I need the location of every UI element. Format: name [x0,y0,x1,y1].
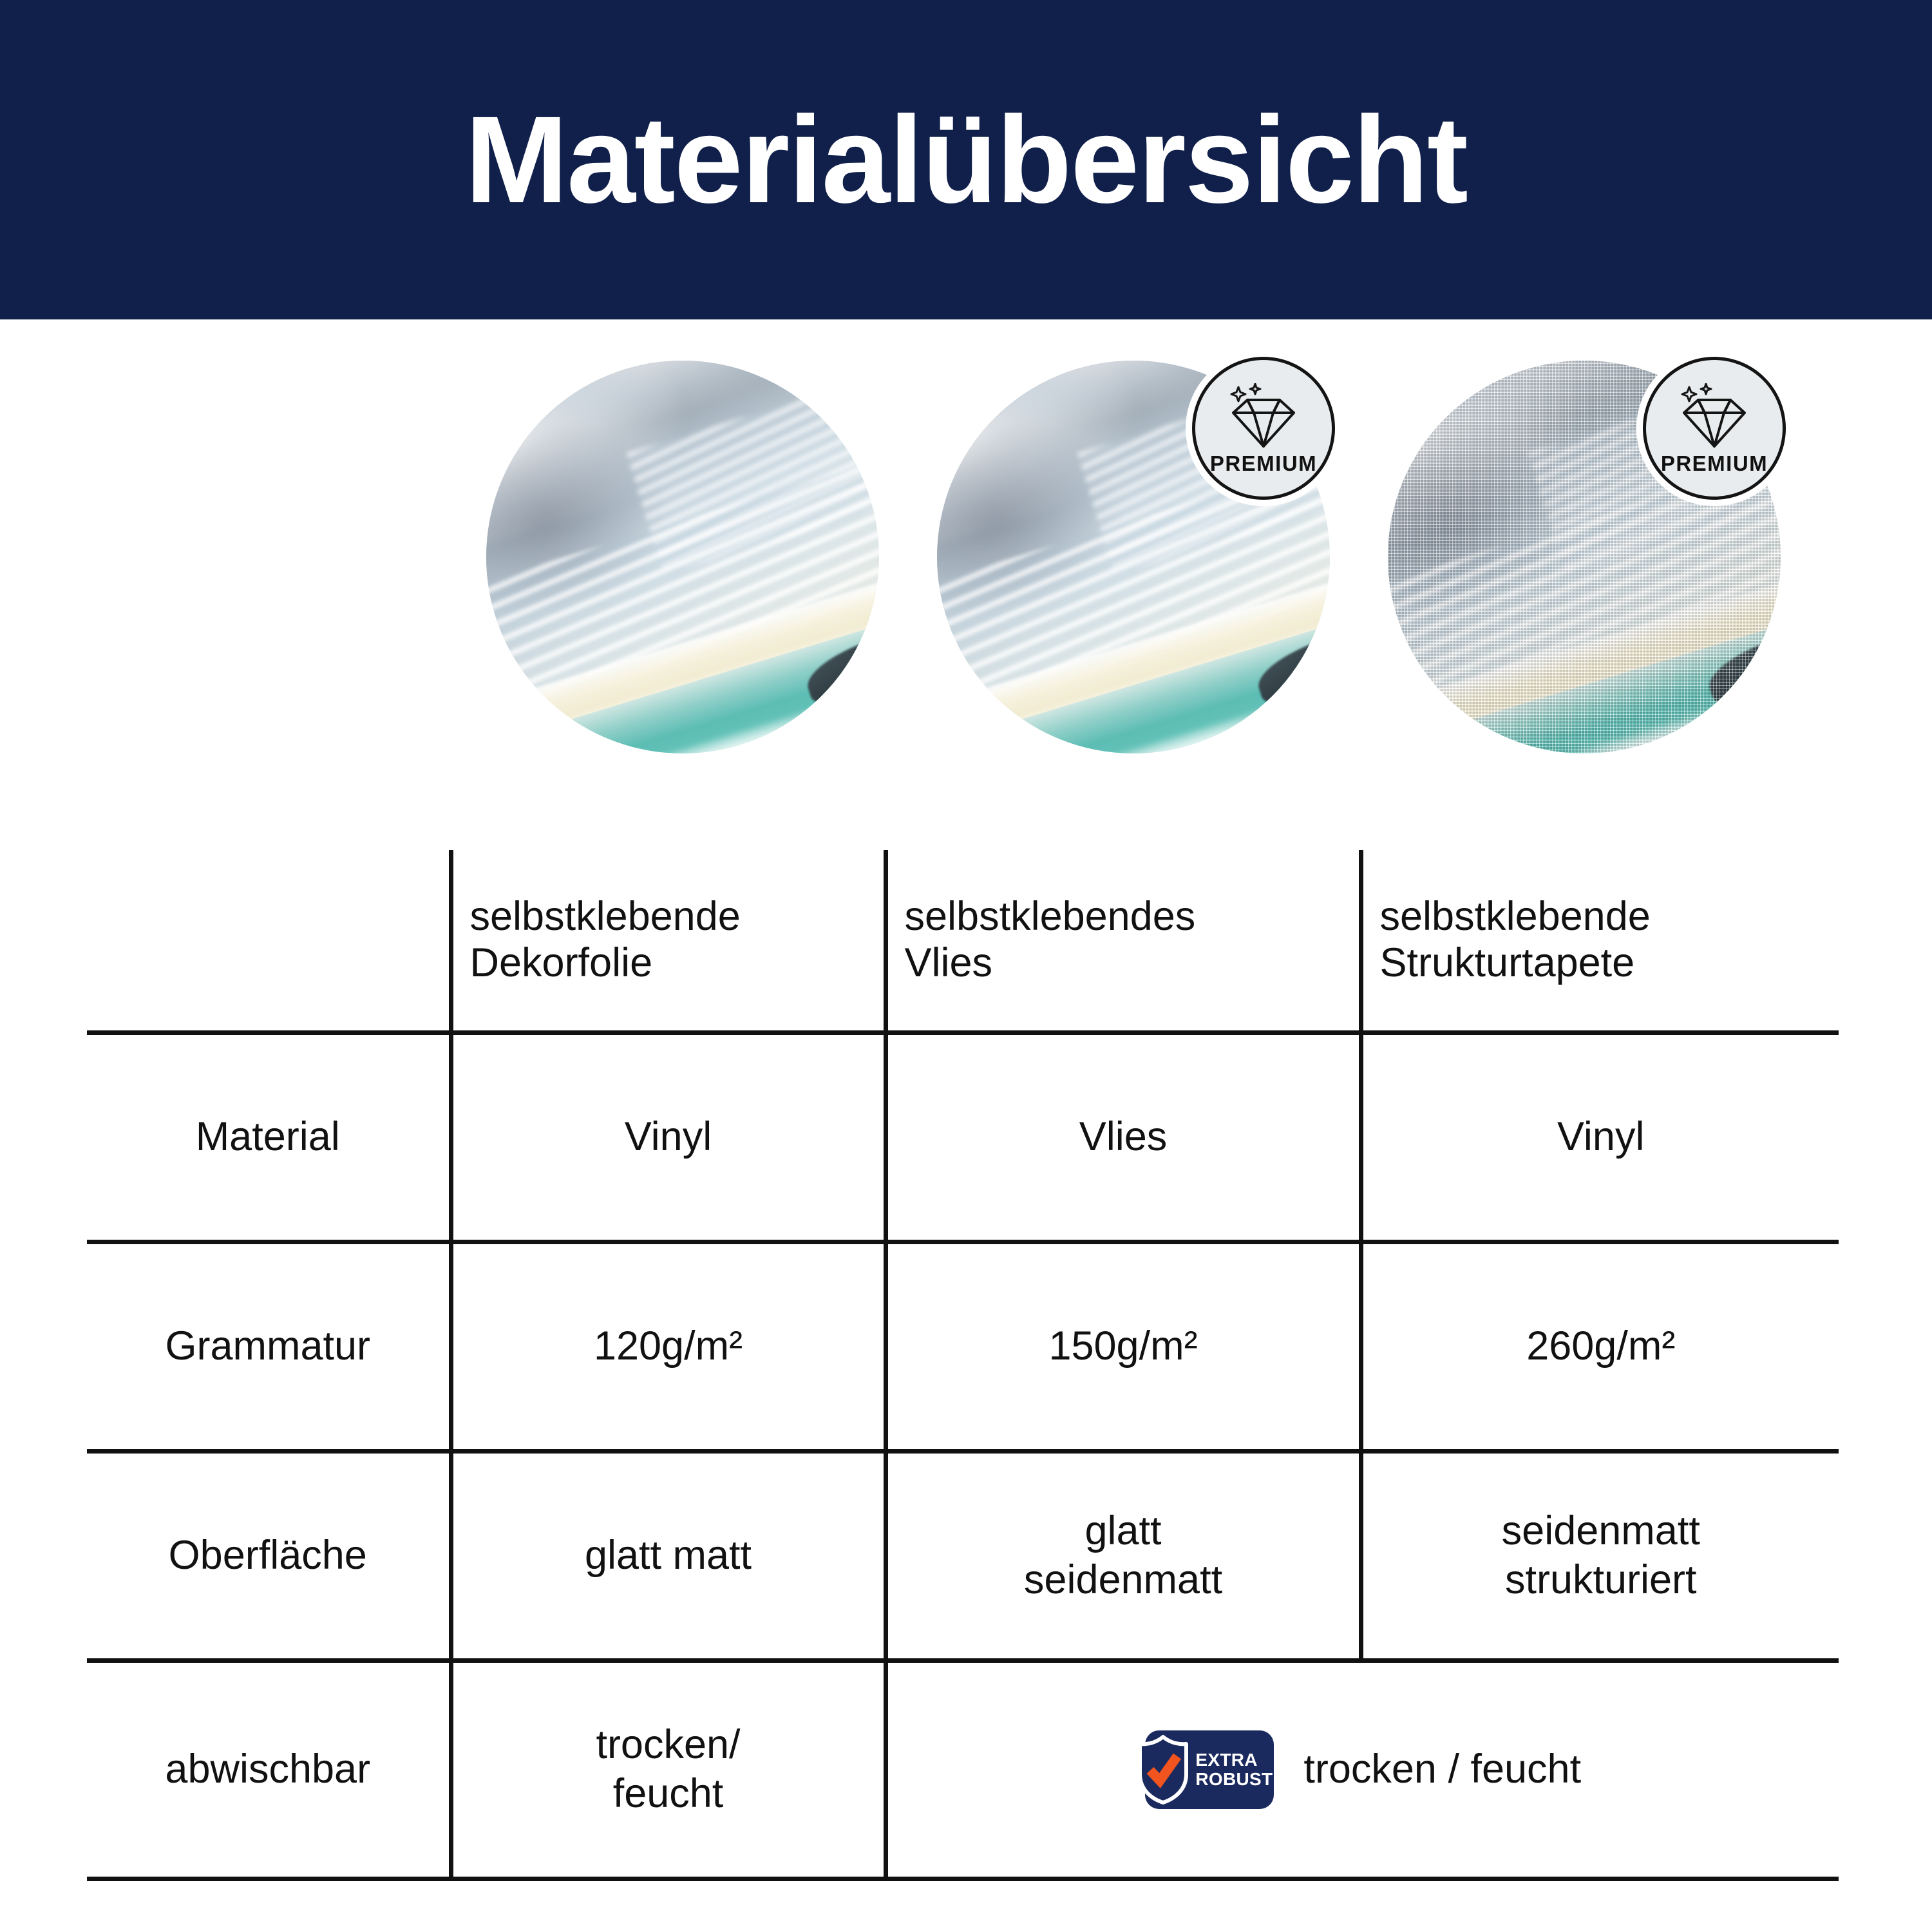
row-label-material: Material [87,1033,451,1242]
table-row-oberflaeche: Oberfläche glatt matt glatt seidenmatt s… [87,1452,1839,1661]
cell-line1: glatt [888,1507,1359,1556]
premium-badge-label: PREMIUM [1210,453,1317,474]
material-sample-strukturtapete[interactable]: PREMIUM [1388,361,1781,753]
sample-image-dekorfolie [486,361,879,753]
cell-abwischbar-merged-text: trocken / feucht [1303,1747,1581,1793]
beach-scene-graphic [486,361,879,753]
page-header-banner: Materialübersicht [0,0,1932,319]
cell-oberflaeche-dekorfolie: glatt matt [451,1452,885,1661]
cell-abwischbar-merged: EXTRA ROBUST trocken / feucht [885,1661,1839,1879]
column-header-line2: Dekorfolie [470,940,884,987]
material-sample-dekorfolie[interactable] [486,361,879,753]
cell-material-strukturtapete: Vinyl [1361,1033,1839,1242]
page-title: Materialübersicht [465,98,1467,222]
diamond-icon [1676,383,1752,450]
extra-robust-label: EXTRA ROBUST [1195,1750,1273,1788]
table-row-grammatur: Grammatur 120g/m² 150g/m² 260g/m² [87,1242,1839,1452]
table-row-abwischbar: abwischbar trocken/ feucht [87,1661,1839,1879]
column-header-strukturtapete: selbstklebende Strukturtapete [1361,850,1839,1033]
cell-line2: strukturiert [1363,1556,1839,1605]
table-row-material: Material Vinyl Vlies Vinyl [87,1033,1839,1242]
robust-row-content: EXTRA ROBUST trocken / feucht [888,1663,1839,1877]
premium-badge-vlies: PREMIUM [1192,357,1335,500]
column-header-dekorfolie: selbstklebende Dekorfolie [451,850,885,1033]
cell-line1: seidenmatt [1363,1507,1839,1556]
row-label-grammatur: Grammatur [87,1242,451,1452]
column-header-line2: Vlies [905,940,1359,987]
cell-grammatur-dekorfolie: 120g/m² [451,1242,885,1452]
table-corner-cell [87,850,451,1033]
material-sample-vlies[interactable]: PREMIUM [937,361,1330,753]
material-overview-page: Materialübersicht [0,0,1932,1932]
cell-oberflaeche-strukturtapete: seidenmatt strukturiert [1361,1452,1839,1661]
column-header-line1: selbstklebendes [905,894,1359,940]
extra-robust-line1: EXTRA [1195,1750,1273,1770]
column-header-vlies: selbstklebendes Vlies [885,850,1361,1033]
column-header-line2: Strukturtapete [1380,940,1839,987]
cell-grammatur-strukturtapete: 260g/m² [1361,1242,1839,1452]
premium-badge-strukturtapete: PREMIUM [1643,357,1786,500]
cell-material-dekorfolie: Vinyl [451,1033,885,1242]
row-label-abwischbar: abwischbar [87,1661,451,1879]
diamond-icon [1226,383,1302,450]
cell-grammatur-vlies: 150g/m² [885,1242,1361,1452]
column-header-line1: selbstklebende [1380,894,1839,940]
table-header-row: selbstklebende Dekorfolie selbstklebende… [87,850,1839,1033]
material-comparison-table: selbstklebende Dekorfolie selbstklebende… [87,850,1839,1881]
column-header-line1: selbstklebende [470,894,884,940]
extra-robust-badge: EXTRA ROBUST [1145,1730,1274,1809]
row-label-oberflaeche: Oberfläche [87,1452,451,1661]
cell-line2: seidenmatt [888,1556,1359,1605]
cell-material-vlies: Vlies [885,1033,1361,1242]
cell-abwischbar-dekorfolie: trocken/ feucht [451,1661,885,1879]
cell-line1: trocken/ [453,1721,884,1770]
shield-check-icon [1136,1734,1190,1805]
cell-oberflaeche-vlies: glatt seidenmatt [885,1452,1361,1661]
extra-robust-line2: ROBUST [1195,1770,1273,1789]
cell-line2: feucht [453,1770,884,1819]
premium-badge-label: PREMIUM [1661,453,1768,474]
material-sample-row: PREMIUM [0,361,1932,773]
